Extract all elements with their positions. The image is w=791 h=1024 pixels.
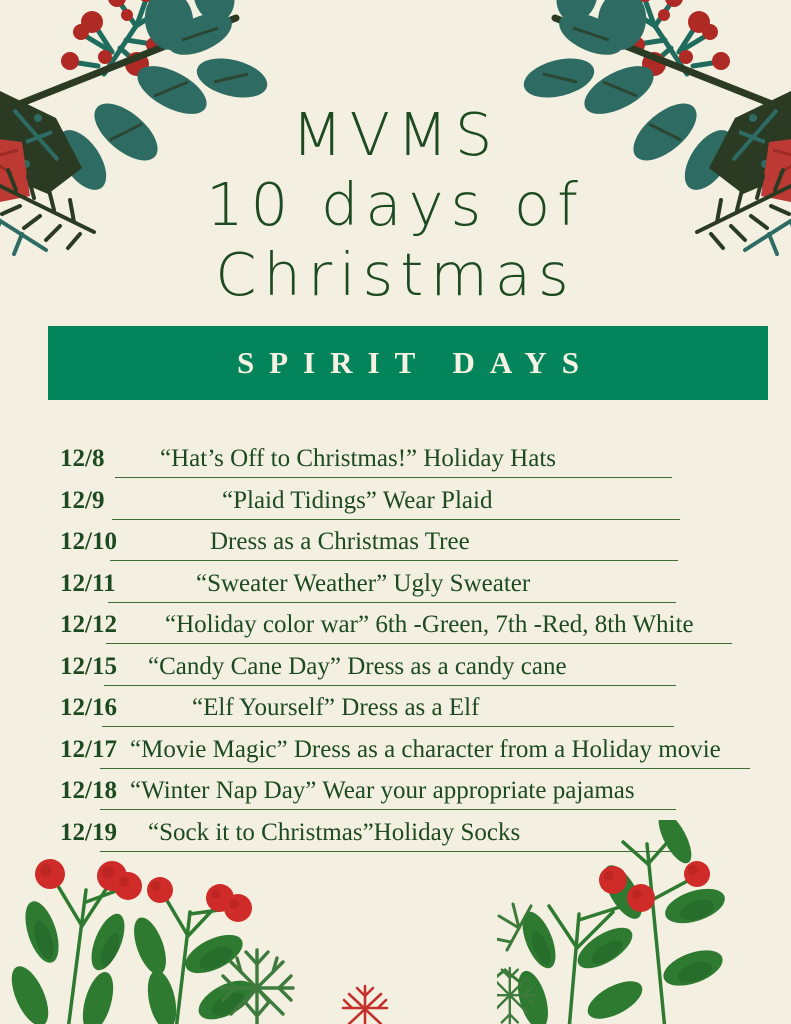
schedule-row-rule [104, 685, 676, 686]
schedule-row-description: “Holiday color war” 6th -Green, 7th -Red… [165, 610, 694, 640]
schedule-row-date: 12/10 [60, 527, 117, 557]
schedule-row: 12/16“Elf Yourself” Dress as a Elf [0, 693, 791, 735]
schedule-row-date: 12/12 [60, 610, 117, 640]
schedule-row: 12/18“Winter Nap Day” Wear your appropri… [0, 776, 791, 818]
schedule-row: 12/19“Sock it to Christmas”Holiday Socks [0, 818, 791, 860]
schedule-row: 12/10Dress as a Christmas Tree [0, 527, 791, 569]
schedule-row: 12/8“Hat’s Off to Christmas!” Holiday Ha… [0, 444, 791, 486]
schedule-row-description: “Candy Cane Day” Dress as a candy cane [148, 652, 567, 682]
snowflake-icon [497, 968, 535, 1024]
schedule-row-rule [108, 602, 676, 603]
schedule-row-description: “Winter Nap Day” Wear your appropriate p… [130, 776, 635, 806]
snowflake-icon [221, 950, 293, 1024]
schedule-row-description: “Sweater Weather” Ugly Sweater [196, 569, 530, 599]
schedule-row-date: 12/11 [60, 569, 116, 599]
schedule-row-date: 12/18 [60, 776, 117, 806]
schedule-row: 12/9“Plaid Tidings” Wear Plaid [0, 486, 791, 528]
schedule-row-rule [115, 477, 672, 478]
snowflake-decoration-bottom-center [215, 946, 445, 1024]
schedule-row-date: 12/9 [60, 486, 104, 516]
spirit-days-schedule-list: 12/8“Hat’s Off to Christmas!” Holiday Ha… [0, 444, 791, 859]
schedule-row-description: “Hat’s Off to Christmas!” Holiday Hats [160, 444, 556, 474]
schedule-row-description: “Plaid Tidings” Wear Plaid [222, 486, 492, 516]
schedule-row-date: 12/8 [60, 444, 104, 474]
schedule-row-description: Dress as a Christmas Tree [210, 527, 470, 557]
schedule-row-date: 12/15 [60, 652, 117, 682]
schedule-row: 12/17“Movie Magic” Dress as a character … [0, 735, 791, 777]
holiday-spirit-days-poster: MVMS 10 days of Christmas SPIRIT DAYS 12… [0, 0, 791, 1024]
schedule-row-rule [100, 768, 750, 769]
title-line-3: Christmas [0, 240, 791, 310]
schedule-row: 12/11“Sweater Weather” Ugly Sweater [0, 569, 791, 611]
mistletoe-decoration-bottom-left [0, 850, 320, 1024]
spirit-days-banner: SPIRIT DAYS [48, 326, 768, 400]
title-line-2: 10 days of [0, 170, 791, 240]
schedule-row-rule [100, 851, 672, 852]
poster-title: MVMS 10 days of Christmas [0, 100, 791, 310]
schedule-row-description: “Sock it to Christmas”Holiday Socks [148, 818, 520, 848]
schedule-row-date: 12/16 [60, 693, 117, 723]
schedule-row: 12/12“Holiday color war” 6th -Green, 7th… [0, 610, 791, 652]
spirit-days-label: SPIRIT DAYS [222, 345, 594, 381]
schedule-row-date: 12/17 [60, 735, 117, 765]
schedule-row-date: 12/19 [60, 818, 117, 848]
title-line-1: MVMS [0, 100, 791, 170]
schedule-row-rule [106, 643, 732, 644]
snowflake-icon [343, 986, 387, 1024]
schedule-row: 12/15“Candy Cane Day” Dress as a candy c… [0, 652, 791, 694]
schedule-row-description: “Elf Yourself” Dress as a Elf [192, 693, 479, 723]
schedule-row-rule [112, 519, 680, 520]
schedule-row-rule [110, 560, 678, 561]
schedule-row-rule [100, 809, 676, 810]
schedule-row-description: “Movie Magic” Dress as a character from … [130, 735, 721, 765]
schedule-row-rule [102, 726, 674, 727]
